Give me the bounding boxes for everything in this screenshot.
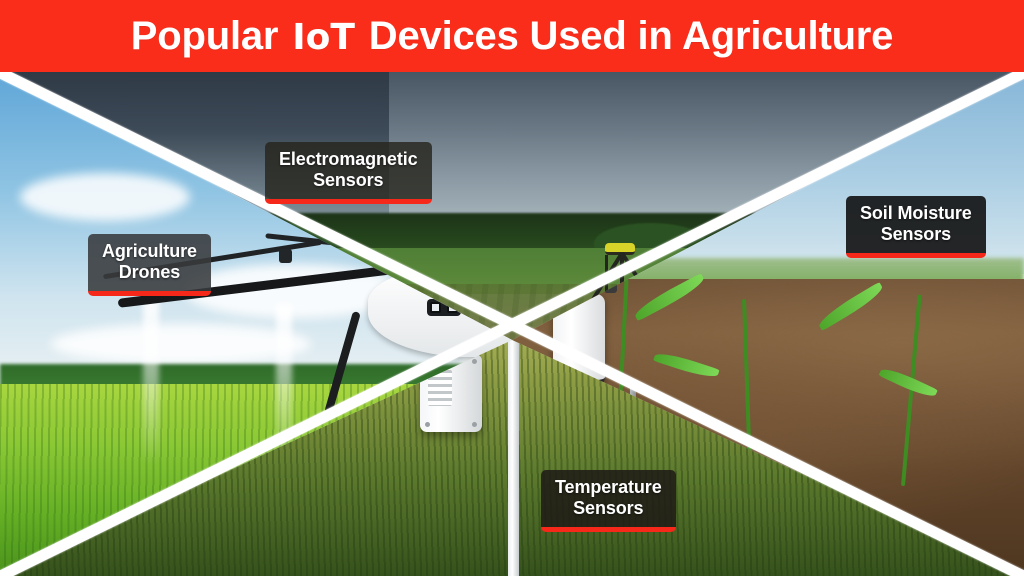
- label-line-1: Soil Moisture: [860, 203, 972, 224]
- label-line-1: Agriculture: [102, 241, 197, 262]
- screw: [472, 359, 477, 364]
- photo-collage: [0, 72, 1024, 576]
- label-line-2: Drones: [102, 262, 197, 283]
- header-banner: Popular IoT Devices Used in Agriculture: [0, 0, 1024, 72]
- label-line-2: Sensors: [555, 498, 662, 519]
- title-iot-text: IoT: [292, 17, 355, 58]
- label-line-2: Sensors: [860, 224, 972, 245]
- screw: [472, 422, 477, 427]
- label-agriculture-drones[interactable]: Agriculture Drones: [88, 234, 211, 296]
- title-text-before: Popular: [131, 14, 289, 58]
- camera-lens: [430, 302, 441, 313]
- label-line-1: Electromagnetic: [279, 149, 418, 170]
- drone-motor: [279, 249, 292, 263]
- title-text-after: Devices Used in Agriculture: [358, 14, 893, 58]
- infographic-root: Popular IoT Devices Used in Agriculture: [0, 0, 1024, 576]
- page-title: Popular IoT Devices Used in Agriculture: [131, 14, 893, 59]
- label-line-1: Temperature: [555, 477, 662, 498]
- cloud: [20, 173, 190, 221]
- label-line-2: Sensors: [279, 170, 418, 191]
- screw: [425, 422, 430, 427]
- label-temperature-sensors[interactable]: Temperature Sensors: [541, 470, 676, 532]
- label-electromagnetic-sensors[interactable]: Electromagnetic Sensors: [265, 142, 432, 204]
- label-soil-moisture-sensors[interactable]: Soil Moisture Sensors: [846, 196, 986, 258]
